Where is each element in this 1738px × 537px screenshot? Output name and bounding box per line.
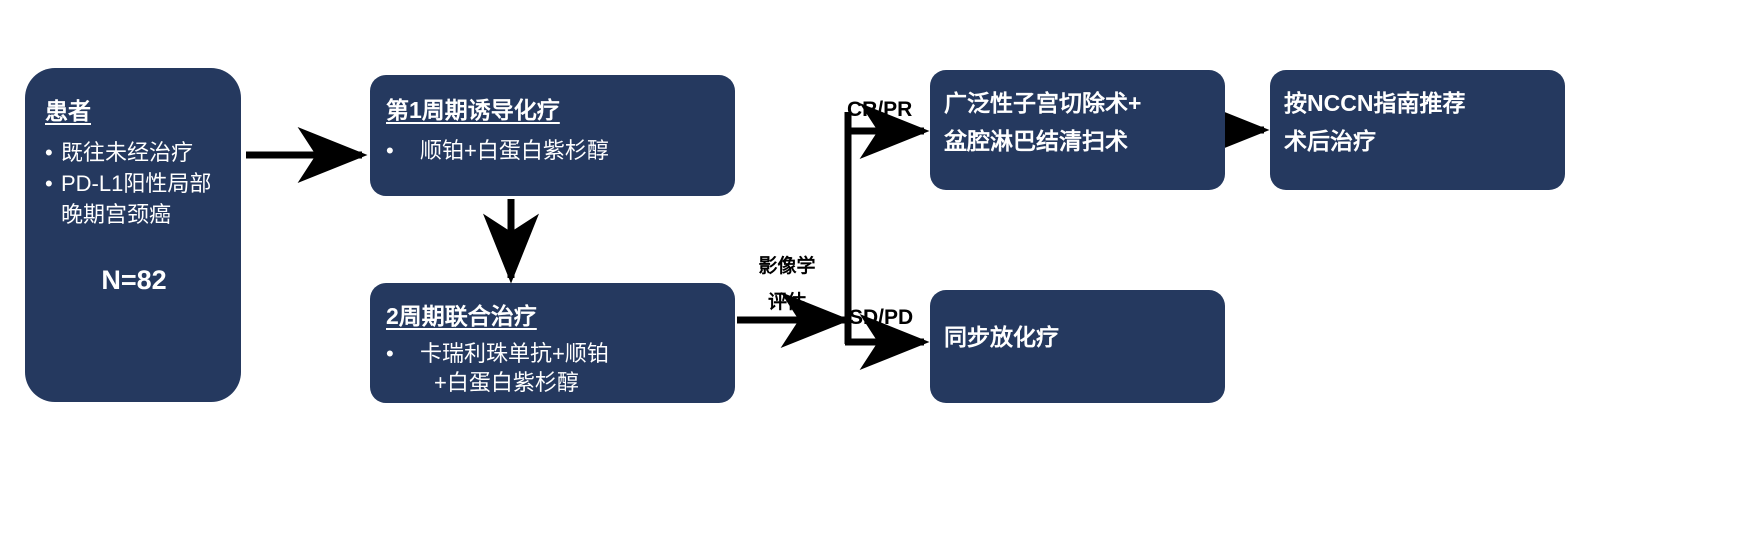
chemoradiation-line-1: 同步放化疗 [944, 322, 1215, 352]
patient-title: 患者 [45, 92, 223, 126]
node-cycle1[interactable]: 第1周期诱导化疗 • 顺铂+白蛋白紫杉醇 [370, 75, 735, 196]
node-cycle2[interactable]: 2周期联合治疗 • 卡瑞利珠单抗+顺铂 +白蛋白紫杉醇 [370, 283, 735, 403]
nccn-line-2: 术后治疗 [1284, 126, 1555, 156]
edge-label-assessment: 影像学 评估 [748, 256, 826, 314]
bullet-dot-icon: • [386, 339, 420, 368]
edge-label-assessment-line-2: 评估 [748, 292, 826, 314]
cycle1-title: 第1周期诱导化疗 [386, 91, 721, 125]
cycle2-bullet-1-continuation: +白蛋白紫杉醇 [434, 368, 721, 397]
cycle2-bullet-1-label: 卡瑞利珠单抗+顺铂 [420, 339, 721, 368]
edge-label-sd-pd: SD/PD [849, 306, 913, 330]
edge-label-cr-pr: CR/PR [847, 98, 912, 122]
patient-bullet-2: • PD-L1阳性局部 [45, 169, 223, 198]
surgery-line-2: 盆腔淋巴结清扫术 [944, 126, 1215, 156]
patient-count: N=82 [45, 265, 223, 296]
node-chemoradiation[interactable]: 同步放化疗 [930, 290, 1225, 403]
cycle2-bullet-1: • 卡瑞利珠单抗+顺铂 [386, 339, 721, 368]
patient-bullet-2-continuation: 晚期宫颈癌 [61, 200, 223, 229]
cycle1-bullet-1-label: 顺铂+白蛋白紫杉醇 [420, 136, 721, 165]
bullet-dot-icon: • [386, 136, 420, 165]
patient-bullet-1: • 既往未经治疗 [45, 138, 223, 167]
patient-bullet-2-label: PD-L1阳性局部 [61, 169, 223, 198]
node-nccn-postop[interactable]: 按NCCN指南推荐 术后治疗 [1270, 70, 1565, 190]
cycle1-bullet-1: • 顺铂+白蛋白紫杉醇 [386, 136, 721, 165]
flowchart-canvas: 患者 • 既往未经治疗 • PD-L1阳性局部 晚期宫颈癌 N=82 第1周期诱… [0, 0, 1738, 537]
surgery-line-1: 广泛性子宫切除术+ [944, 88, 1215, 118]
bullet-dot-icon: • [45, 138, 61, 167]
node-patient[interactable]: 患者 • 既往未经治疗 • PD-L1阳性局部 晚期宫颈癌 N=82 [25, 68, 241, 402]
patient-bullet-1-label: 既往未经治疗 [61, 138, 223, 167]
nccn-line-1: 按NCCN指南推荐 [1284, 88, 1555, 118]
bullet-dot-icon: • [45, 169, 61, 198]
node-surgery[interactable]: 广泛性子宫切除术+ 盆腔淋巴结清扫术 [930, 70, 1225, 190]
cycle2-title: 2周期联合治疗 [386, 297, 721, 331]
edge-label-assessment-line-1: 影像学 [748, 256, 826, 278]
